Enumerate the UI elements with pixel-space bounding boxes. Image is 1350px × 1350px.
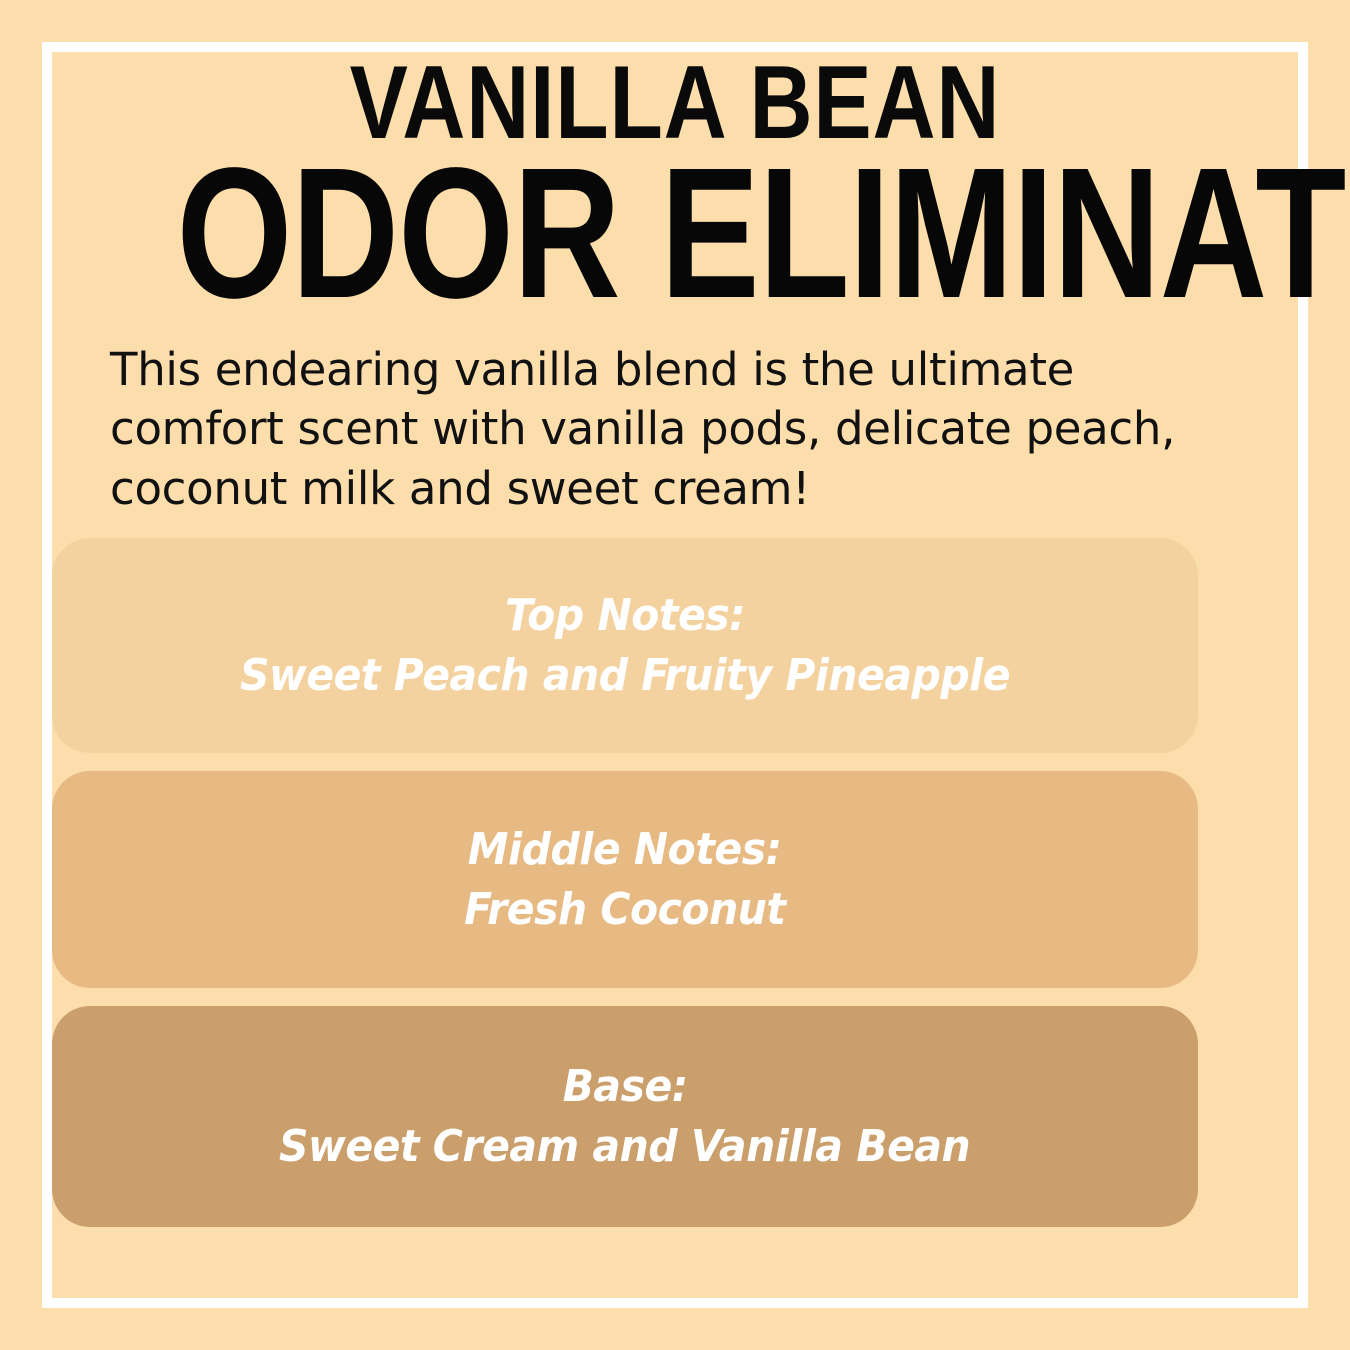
note-card-base-label: Base:: [563, 1060, 688, 1114]
note-card-middle: Middle Notes: Fresh Coconut: [52, 771, 1198, 988]
note-card-base: Base: Sweet Cream and Vanilla Bean: [52, 1006, 1198, 1227]
note-card-middle-label: Middle Notes:: [468, 823, 782, 877]
note-card-middle-value: Fresh Coconut: [464, 883, 785, 937]
note-card-top-value: Sweet Peach and Fruity Pineapple: [240, 649, 1010, 703]
product-detail-poster: VANILLA BEAN ODOR ELIMINATING This endea…: [0, 0, 1350, 1350]
page-title: ODOR ELIMINATING: [177, 154, 1174, 314]
note-card-base-value: Sweet Cream and Vanilla Bean: [279, 1120, 970, 1174]
fragrance-notes-list: Top Notes: Sweet Peach and Fruity Pineap…: [52, 538, 1198, 1227]
product-description: This endearing vanilla blend is the ulti…: [52, 340, 1298, 520]
note-card-top-label: Top Notes:: [505, 589, 745, 643]
note-card-top: Top Notes: Sweet Peach and Fruity Pineap…: [52, 538, 1198, 753]
headline-block: VANILLA BEAN ODOR ELIMINATING: [52, 52, 1298, 314]
